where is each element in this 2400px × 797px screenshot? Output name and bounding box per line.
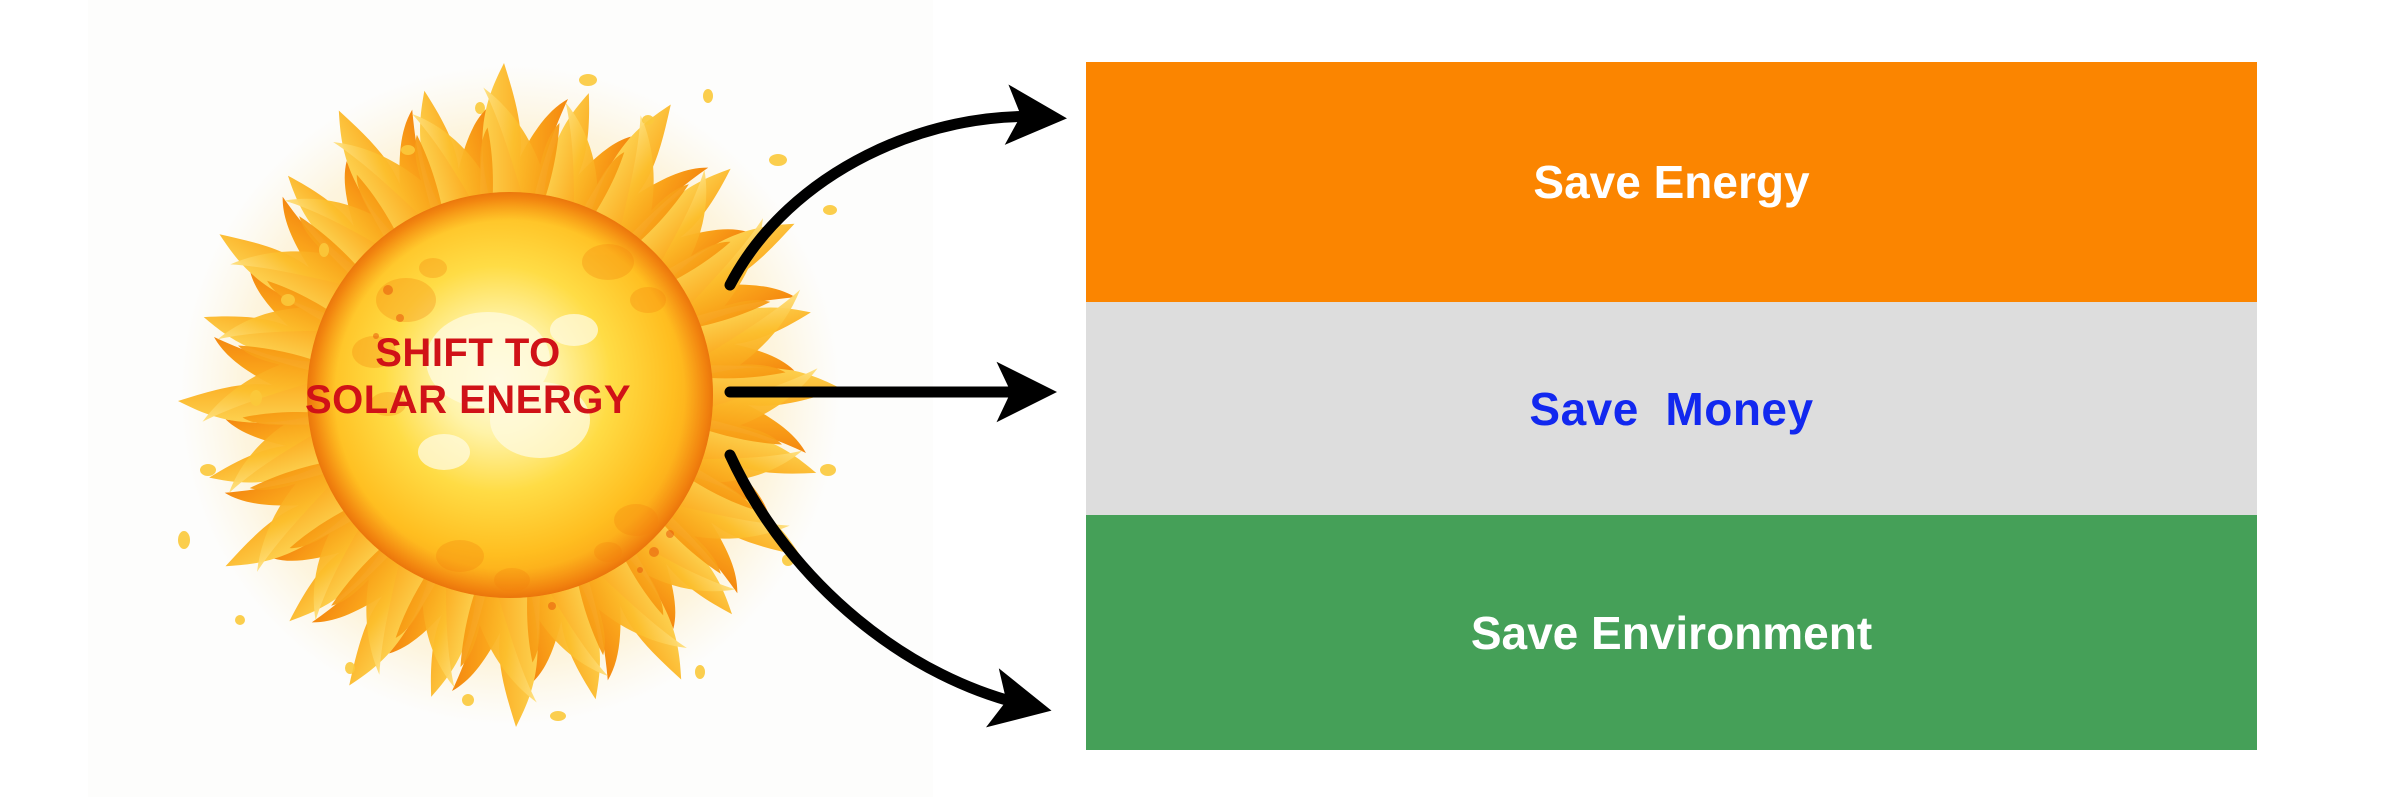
arrow-to-save-energy [730, 116, 1045, 285]
benefits-bars: Save Energy Save Money Save Environment [1086, 62, 2257, 750]
infographic-canvas: SHIFT TO SOLAR ENERGY Save Energy Save M… [0, 0, 2400, 797]
bar-save-energy: Save Energy [1086, 62, 2257, 302]
bar-save-energy-label: Save Energy [1533, 155, 1809, 209]
bar-save-money-label: Save Money [1529, 382, 1813, 436]
bar-save-environment-label: Save Environment [1471, 606, 1872, 660]
bar-save-environment: Save Environment [1086, 515, 2257, 750]
bar-save-money: Save Money [1086, 302, 2257, 515]
arrow-to-save-environment [730, 455, 1030, 706]
